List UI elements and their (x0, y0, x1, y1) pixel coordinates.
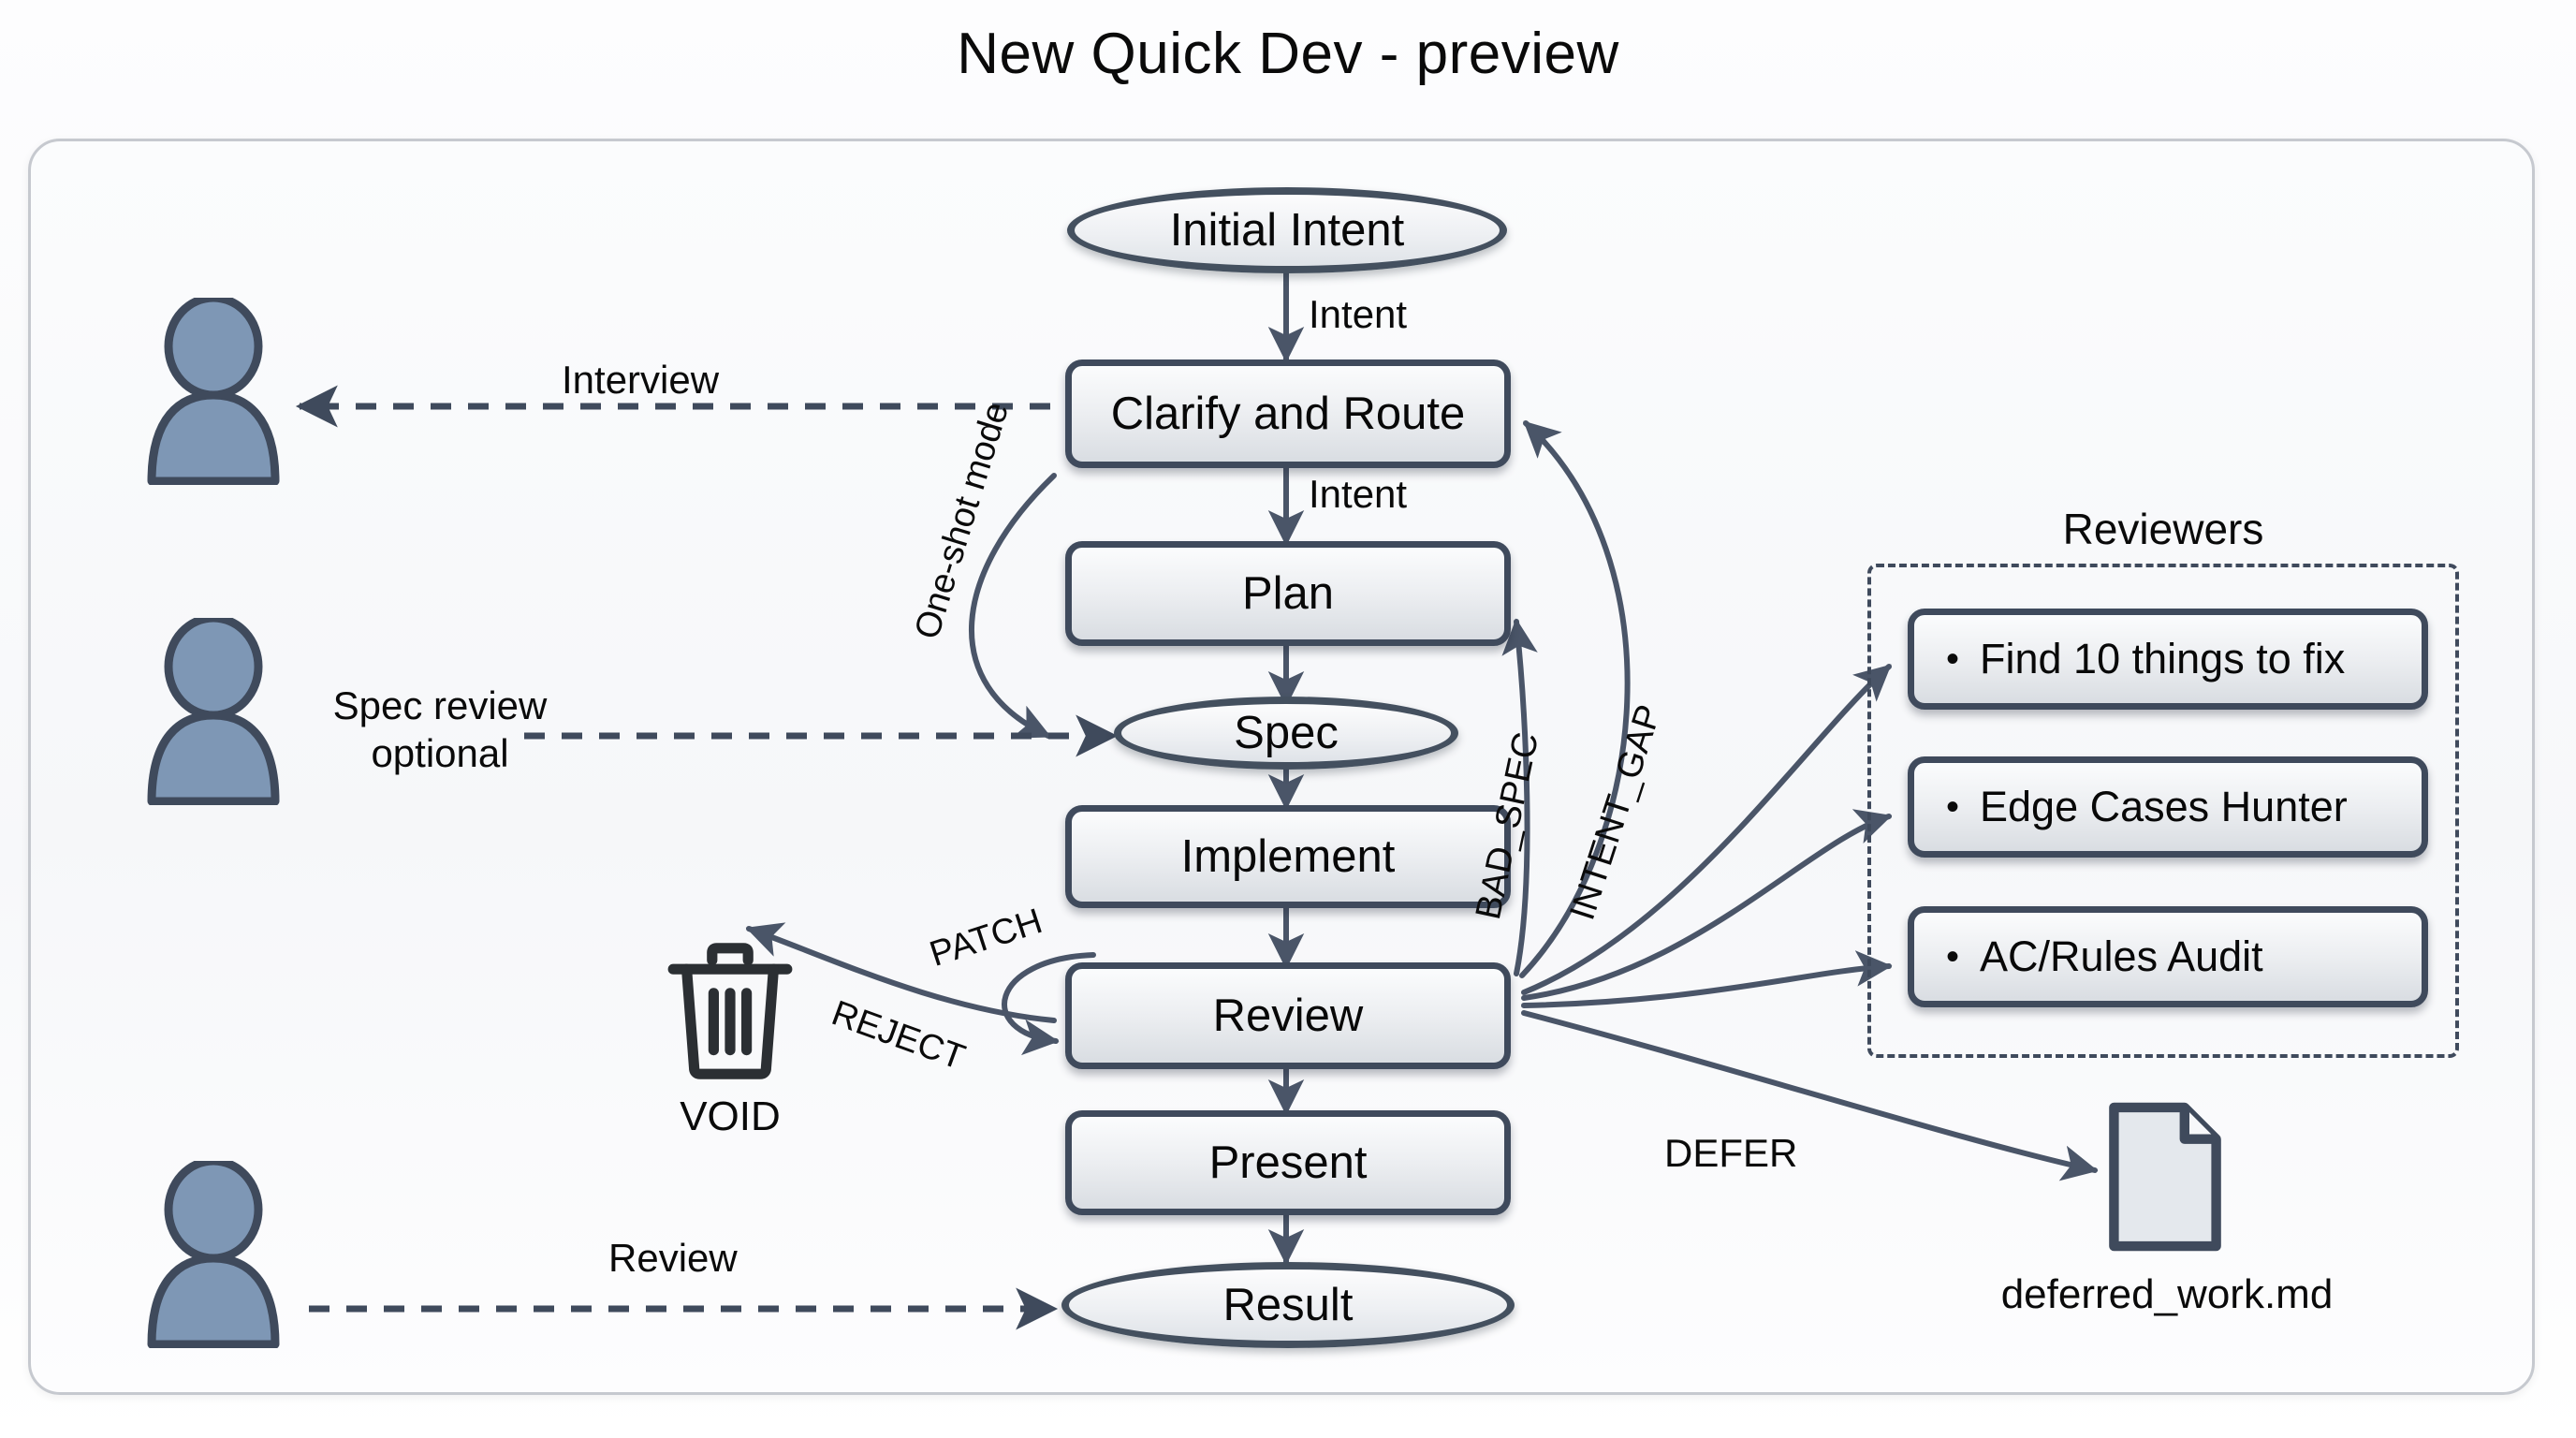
actor-label-review: Review (608, 1236, 738, 1281)
person-icon (139, 298, 288, 485)
trash-icon (655, 936, 805, 1086)
node-label: Result (1223, 1279, 1354, 1331)
edge-label-intent-mid: Intent (1309, 472, 1407, 517)
void-artifact[interactable] (655, 936, 805, 1086)
actor-label-line1: Spec review (300, 682, 580, 729)
reviewer-node-edge-cases-hunter[interactable]: • Edge Cases Hunter (1908, 756, 2428, 858)
bullet-icon: • (1946, 788, 1959, 826)
actor-label-interview: Interview (562, 358, 719, 403)
void-label: VOID (637, 1093, 824, 1140)
actor-spec-review[interactable] (139, 618, 288, 805)
node-label: Clarify and Route (1111, 388, 1466, 440)
document-icon (2104, 1097, 2226, 1256)
person-icon (139, 1161, 288, 1348)
node-label: Initial Intent (1170, 204, 1405, 257)
reviewer-label: Find 10 things to fix (1980, 635, 2345, 683)
node-clarify-and-route[interactable]: Clarify and Route (1065, 359, 1511, 468)
bullet-icon: • (1946, 938, 1959, 976)
deferred-work-artifact[interactable] (2104, 1097, 2226, 1256)
node-label: Plan (1242, 567, 1334, 620)
person-icon (139, 618, 288, 805)
reviewers-cluster-title: Reviewers (1867, 504, 2459, 554)
bullet-icon: • (1946, 640, 1959, 678)
actor-label-spec-review: Spec review optional (300, 682, 580, 777)
node-label: Spec (1234, 707, 1339, 759)
reviewer-label: AC/Rules Audit (1980, 932, 2263, 981)
edge-label-intent-top: Intent (1309, 292, 1407, 337)
reviewer-node-find-10-things-to-fix[interactable]: • Find 10 things to fix (1908, 609, 2428, 710)
actor-label-line2: optional (300, 729, 580, 777)
node-plan[interactable]: Plan (1065, 541, 1511, 646)
node-present[interactable]: Present (1065, 1110, 1511, 1215)
actor-interview[interactable] (139, 298, 288, 485)
node-review[interactable]: Review (1065, 962, 1511, 1069)
node-label: Implement (1181, 830, 1396, 883)
reviewer-label: Edge Cases Hunter (1980, 783, 2348, 831)
reviewer-node-ac-rules-audit[interactable]: • AC/Rules Audit (1908, 906, 2428, 1007)
edge-label-defer: DEFER (1664, 1131, 1797, 1176)
node-spec[interactable]: Spec (1114, 697, 1458, 770)
node-label: Present (1209, 1137, 1368, 1189)
node-implement[interactable]: Implement (1065, 805, 1511, 908)
actor-review[interactable] (139, 1161, 288, 1348)
node-label: Review (1213, 990, 1364, 1042)
page-title: New Quick Dev - preview (0, 21, 2576, 87)
node-result[interactable]: Result (1061, 1262, 1515, 1348)
node-initial-intent[interactable]: Initial Intent (1067, 187, 1507, 273)
deferred-work-label: deferred_work.md (1928, 1271, 2406, 1318)
